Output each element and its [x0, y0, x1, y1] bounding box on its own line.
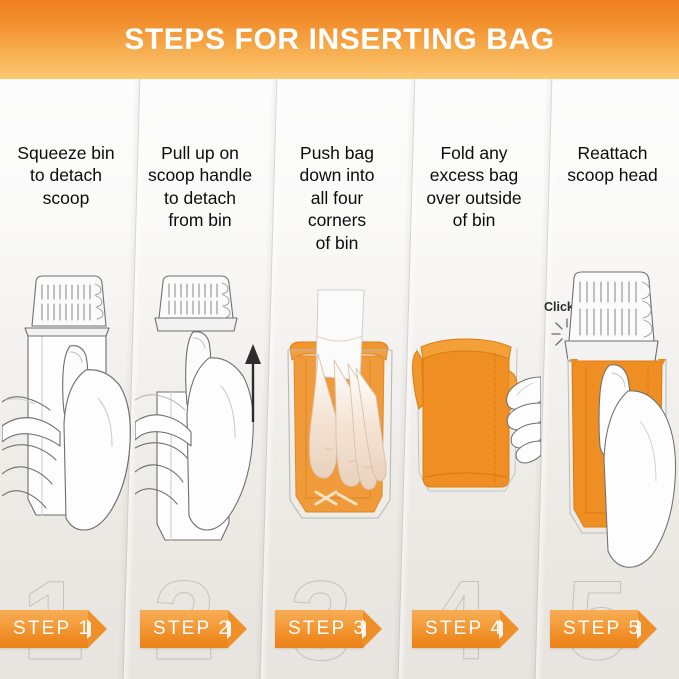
step-banner-label: STEP 2 — [153, 618, 231, 640]
chevron-right-inner-icon — [641, 621, 650, 637]
step-panel-2: Pull up on scoop handle to detach from b… — [135, 79, 265, 679]
caption-line: corners — [272, 209, 402, 231]
step-banner-2[interactable]: STEP 2 — [140, 610, 228, 648]
illustration-step-3 — [282, 284, 402, 544]
caption-line: Reattach — [546, 142, 679, 164]
caption-line: scoop handle — [135, 164, 265, 186]
step-caption-1: Squeeze bin to detach scoop — [0, 142, 132, 209]
step-caption-2: Pull up on scoop handle to detach from b… — [135, 142, 265, 232]
illustration-step-2 — [135, 274, 267, 564]
step-caption-5: Reattach scoop head — [546, 142, 679, 187]
step-panel-4: Fold any excess bag over outside of bin … — [409, 79, 539, 679]
caption-line: Push bag — [272, 142, 402, 164]
caption-line: to detach — [135, 187, 265, 209]
step-panel-3: Push bag down into all four corners of b… — [272, 79, 402, 679]
illustration-step-5 — [556, 269, 679, 569]
step-banner-3[interactable]: STEP 3 — [275, 610, 363, 648]
poster-header: STEPS FOR INSERTING BAG — [0, 0, 679, 79]
caption-line: of bin — [272, 232, 402, 254]
caption-line: all four — [272, 187, 402, 209]
step-caption-4: Fold any excess bag over outside of bin — [409, 142, 539, 232]
caption-line: scoop — [0, 187, 132, 209]
caption-line: excess bag — [409, 164, 539, 186]
page-title: STEPS FOR INSERTING BAG — [124, 25, 555, 55]
step-banner-5[interactable]: STEP 5 — [550, 610, 638, 648]
chevron-right-inner-icon — [91, 621, 100, 637]
caption-line: Squeeze bin — [0, 142, 132, 164]
caption-line: Fold any — [409, 142, 539, 164]
caption-line: of bin — [409, 209, 539, 231]
step-banner-label: STEP 4 — [425, 618, 503, 640]
step-banner-label: STEP 5 — [563, 618, 641, 640]
illustration-step-1 — [2, 274, 134, 564]
steps-stage: Squeeze bin to detach scoop 1 — [0, 79, 679, 679]
caption-line: scoop head — [546, 164, 679, 186]
caption-line: from bin — [135, 209, 265, 231]
chevron-right-inner-icon — [366, 621, 375, 637]
illustration-step-4 — [409, 319, 541, 519]
step-banner-label: STEP 1 — [13, 618, 91, 640]
instruction-poster: STEPS FOR INSERTING BAG Squeeze bin to d… — [0, 0, 679, 679]
step-caption-3: Push bag down into all four corners of b… — [272, 142, 402, 254]
caption-line: Pull up on — [135, 142, 265, 164]
step-banner-label: STEP 3 — [288, 618, 366, 640]
caption-line: over outside — [409, 187, 539, 209]
step-panel-5: Reattach scoop head 5 Click! — [546, 79, 679, 679]
step-panel-1: Squeeze bin to detach scoop 1 — [0, 79, 132, 679]
caption-line: down into — [272, 164, 402, 186]
chevron-right-inner-icon — [231, 621, 240, 637]
step-banner-1[interactable]: STEP 1 — [0, 610, 88, 648]
caption-line: to detach — [0, 164, 132, 186]
step-banner-4[interactable]: STEP 4 — [412, 610, 500, 648]
chevron-right-inner-icon — [503, 621, 512, 637]
